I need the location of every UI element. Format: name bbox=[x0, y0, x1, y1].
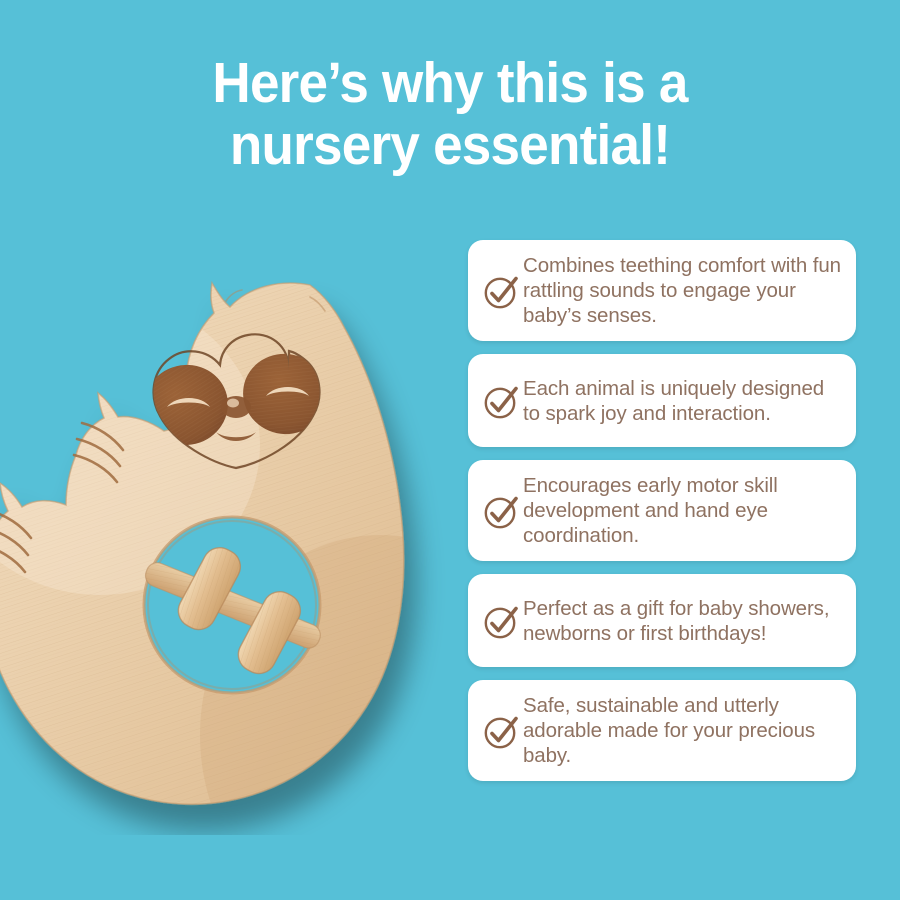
benefit-text: Combines teething comfort with fun rattl… bbox=[523, 253, 842, 328]
benefits-list: Combines teething comfort with fun rattl… bbox=[468, 240, 856, 794]
check-circle-icon bbox=[481, 712, 521, 752]
benefit-card[interactable]: Encourages early motor skill development… bbox=[468, 460, 856, 561]
check-circle-icon bbox=[481, 492, 521, 532]
benefit-text: Perfect as a gift for baby showers, newb… bbox=[523, 596, 842, 646]
check-circle-icon bbox=[481, 602, 521, 642]
benefit-text: Safe, sustainable and utterly adorable m… bbox=[523, 693, 842, 768]
product-image bbox=[0, 255, 480, 835]
check-circle-icon bbox=[481, 382, 521, 422]
benefit-card[interactable]: Each animal is uniquely designed to spar… bbox=[468, 354, 856, 447]
benefit-card[interactable]: Perfect as a gift for baby showers, newb… bbox=[468, 574, 856, 667]
benefit-text: Each animal is uniquely designed to spar… bbox=[523, 376, 842, 426]
infographic-canvas: Here’s why this is a nursery essential! bbox=[0, 0, 900, 900]
benefit-card[interactable]: Combines teething comfort with fun rattl… bbox=[468, 240, 856, 341]
page-title: Here’s why this is a nursery essential! bbox=[32, 52, 869, 176]
check-circle-icon bbox=[481, 272, 521, 312]
benefit-text: Encourages early motor skill development… bbox=[523, 473, 842, 548]
benefit-card[interactable]: Safe, sustainable and utterly adorable m… bbox=[468, 680, 856, 781]
